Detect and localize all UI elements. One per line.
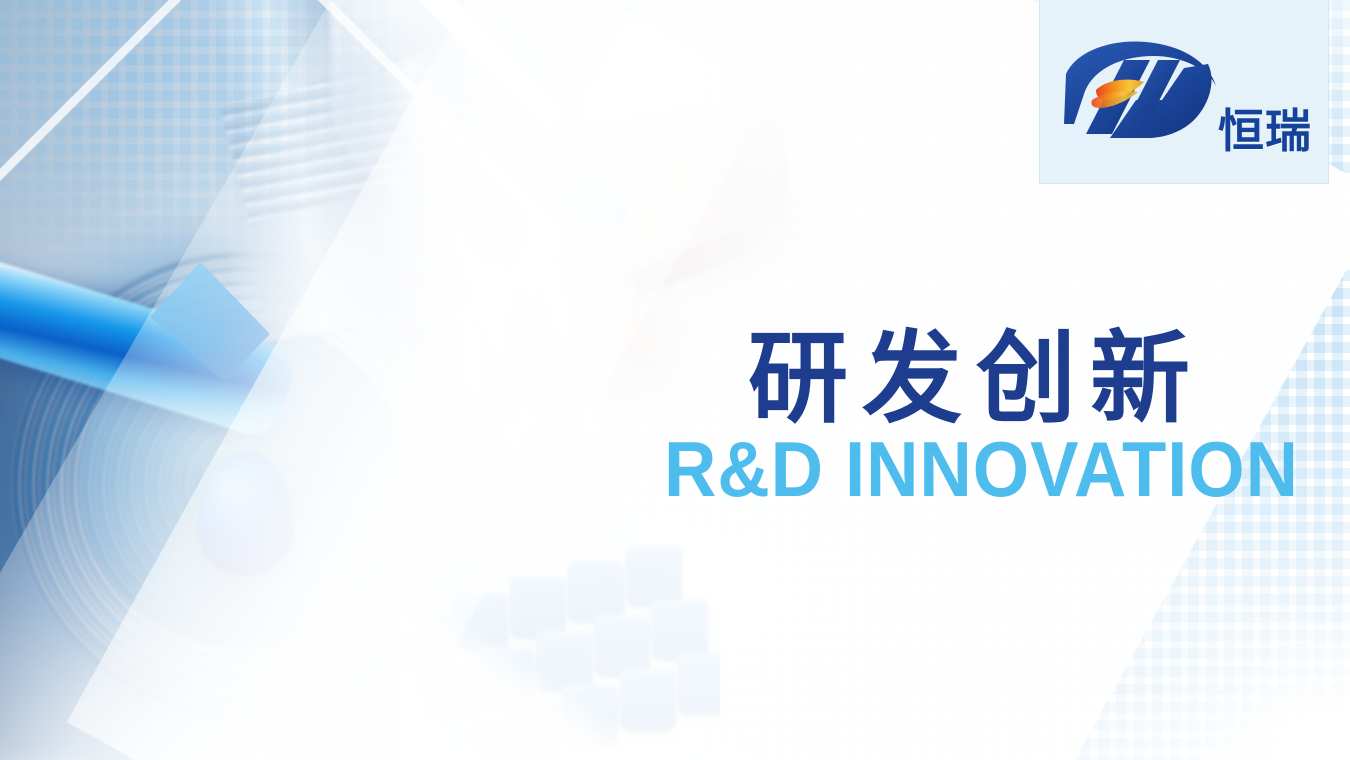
rd-innovation-banner: 研发创新 R&D INNOVATION [0, 0, 1350, 760]
headline-block: 研发创新 R&D INNOVATION [748, 326, 1347, 508]
hengrui-mark-icon [1058, 38, 1226, 148]
page-subtitle: R&D INNOVATION [664, 430, 1299, 508]
page-title: 研发创新 [748, 326, 1347, 432]
logo-inner: 恒瑞 [1058, 32, 1310, 152]
hengrui-logo-plaque[interactable]: 恒瑞 [1040, 0, 1328, 183]
logo-company-name: 恒瑞 [1218, 108, 1312, 154]
